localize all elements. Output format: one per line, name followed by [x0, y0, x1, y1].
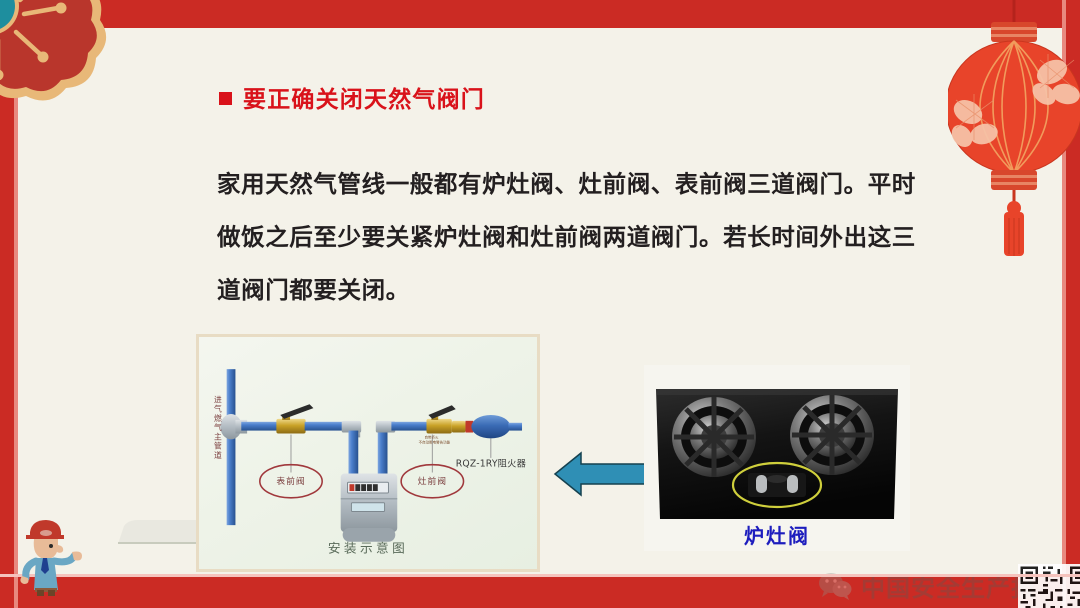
- qr-code: [1018, 564, 1080, 608]
- lantern-decoration: [948, 0, 1080, 260]
- diagram-meter-valve-label: 表前阀: [276, 475, 305, 487]
- diagram-arrestor-note-1: 自带点火: [425, 434, 439, 439]
- installation-diagram: 进气燃气主管道 表前阀 灶前阀 RQZ-1RY阻火器 自带点火 不自动断电警告功…: [196, 334, 540, 572]
- slide-heading: 要正确关闭天然气阀门: [219, 80, 485, 114]
- diagram-inlet-label: 进气燃气主管道: [213, 395, 222, 460]
- diagram-arrestor-note-2: 不自动断电警告功能: [419, 439, 451, 444]
- body-paragraph: 家用天然气管线一般都有炉灶阀、灶前阀、表前阀三道阀门。平时做饭之后至少要关紧炉灶…: [217, 158, 917, 317]
- left-pointing-arrow: [551, 446, 649, 502]
- diagram-caption: 安装示意图: [328, 540, 408, 555]
- page-title: 要正确关闭天然气阀门: [243, 80, 485, 114]
- cloud-ornament-decoration: [0, 0, 124, 126]
- stove-caption: 炉灶阀: [644, 520, 910, 549]
- frame-hairline-bottom: [0, 574, 1080, 577]
- slide-paper: 要正确关闭天然气阀门 家用天然气管线一般都有炉灶阀、灶前阀、表前阀三道阀门。平时…: [18, 28, 1062, 575]
- diagram-arrestor-label: RQZ-1RY阻火器: [456, 459, 526, 470]
- safety-worker-mascot: [2, 512, 88, 596]
- diagram-graphic: 进气燃气主管道 表前阀 灶前阀 RQZ-1RY阻火器 自带点火 不自动断电警告功…: [199, 337, 537, 569]
- slide-canvas: 要正确关闭天然气阀门 家用天然气管线一般都有炉灶阀、灶前阀、表前阀三道阀门。平时…: [0, 0, 1080, 608]
- diagram-stove-valve-label: 灶前阀: [418, 475, 447, 487]
- bullet-square-icon: [219, 92, 232, 105]
